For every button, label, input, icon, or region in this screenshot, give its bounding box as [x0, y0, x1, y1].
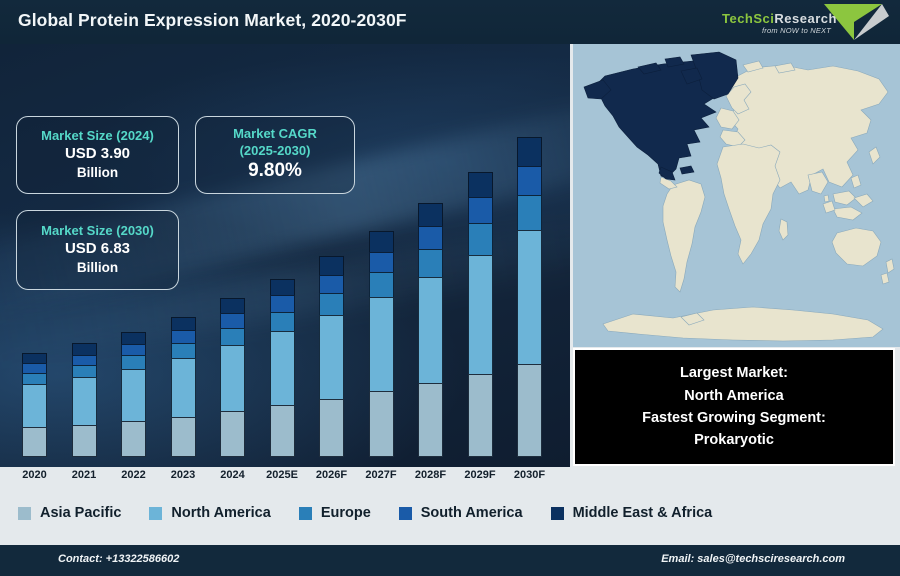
- bar-segment-asia-pacific: [270, 405, 295, 457]
- legend-swatch-icon: [149, 507, 162, 520]
- bar-segment-middle-east-africa: [72, 343, 97, 354]
- bar-segment-middle-east-africa: [517, 137, 542, 166]
- bar-2029F[interactable]: [468, 172, 493, 457]
- bar-segment-south-america: [369, 252, 394, 272]
- bar-segment-europe: [418, 249, 443, 277]
- bar-segment-europe: [517, 195, 542, 230]
- largest-market-value: North America: [684, 385, 783, 407]
- bar-segment-asia-pacific: [220, 411, 245, 457]
- bar-segment-europe: [319, 293, 344, 315]
- brand-logo: TechSciResearch from NOW to NEXT: [704, 0, 894, 44]
- bar-2020[interactable]: [22, 353, 47, 457]
- contact-email: Email: sales@techsciresearch.com: [661, 553, 845, 565]
- bar-segment-north-america: [369, 297, 394, 391]
- bar-segment-asia-pacific: [319, 399, 344, 457]
- bar-segment-asia-pacific: [121, 421, 146, 457]
- bar-segment-south-america: [22, 363, 47, 373]
- page-title: Global Protein Expression Market, 2020-2…: [18, 10, 407, 31]
- legend-swatch-icon: [399, 507, 412, 520]
- bar-2030F[interactable]: [517, 137, 542, 457]
- footer-bar: Contact: +13322586602 Email: sales@techs…: [0, 545, 900, 576]
- legend-label: Europe: [321, 505, 371, 521]
- bar-2021[interactable]: [72, 343, 97, 457]
- stacked-bar-chart: [0, 44, 570, 467]
- bar-segment-south-america: [418, 226, 443, 249]
- bar-segment-north-america: [270, 331, 295, 405]
- bar-segment-middle-east-africa: [22, 353, 47, 363]
- world-map-svg: [573, 44, 900, 347]
- bar-segment-south-america: [468, 197, 493, 223]
- world-map: [570, 44, 900, 347]
- chart-panel: Market Size (2024) USD 3.90 Billion Mark…: [0, 44, 570, 467]
- logo-text-part1: TechSci: [722, 11, 774, 26]
- legend-swatch-icon: [18, 507, 31, 520]
- bar-segment-south-america: [220, 313, 245, 328]
- legend-item-middle-east-africa[interactable]: Middle East & Africa: [551, 505, 713, 521]
- bar-segment-asia-pacific: [22, 427, 47, 457]
- bar-2028F[interactable]: [418, 203, 443, 457]
- bar-segment-middle-east-africa: [369, 231, 394, 251]
- bar-segment-asia-pacific: [468, 374, 493, 457]
- legend-label: Middle East & Africa: [573, 505, 713, 521]
- legend-item-north-america[interactable]: North America: [149, 505, 270, 521]
- bar-segment-south-america: [517, 166, 542, 195]
- bar-segment-north-america: [517, 230, 542, 363]
- bar-segment-north-america: [220, 345, 245, 411]
- bar-2026F[interactable]: [319, 256, 344, 457]
- bar-segment-middle-east-africa: [171, 317, 196, 330]
- legend-swatch-icon: [551, 507, 564, 520]
- bar-segment-asia-pacific: [418, 383, 443, 457]
- bar-segment-asia-pacific: [72, 425, 97, 458]
- largest-market-label: Largest Market:: [680, 362, 788, 384]
- bar-segment-north-america: [319, 315, 344, 399]
- contact-phone: Contact: +13322586602: [58, 553, 179, 565]
- x-axis-label-2030F: 2030F: [500, 469, 560, 481]
- infographic-root: Global Protein Expression Market, 2020-2…: [0, 0, 900, 576]
- legend-label: South America: [421, 505, 523, 521]
- fastest-segment-label: Fastest Growing Segment:: [642, 407, 826, 429]
- chart-legend: Asia PacificNorth AmericaEuropeSouth Ame…: [0, 491, 900, 535]
- bar-segment-europe: [121, 355, 146, 369]
- bar-segment-middle-east-africa: [468, 172, 493, 198]
- header-bar: Global Protein Expression Market, 2020-2…: [0, 0, 900, 44]
- legend-swatch-icon: [299, 507, 312, 520]
- bar-segment-middle-east-africa: [220, 298, 245, 313]
- legend-label: Asia Pacific: [40, 505, 121, 521]
- legend-item-europe[interactable]: Europe: [299, 505, 371, 521]
- bar-segment-north-america: [121, 369, 146, 421]
- legend-item-asia-pacific[interactable]: Asia Pacific: [18, 505, 121, 521]
- bar-segment-europe: [270, 312, 295, 332]
- bar-segment-europe: [468, 223, 493, 255]
- bar-segment-north-america: [468, 255, 493, 374]
- bar-segment-north-america: [418, 277, 443, 383]
- bar-segment-asia-pacific: [369, 391, 394, 457]
- x-axis: 202020212022202320242025E2026F2027F2028F…: [0, 467, 570, 491]
- bar-segment-north-america: [22, 384, 47, 427]
- bar-segment-asia-pacific: [171, 417, 196, 457]
- legend-label: North America: [171, 505, 270, 521]
- bar-segment-south-america: [319, 275, 344, 293]
- bar-segment-europe: [171, 343, 196, 358]
- logo-text-part2: Research: [774, 11, 837, 26]
- bar-segment-middle-east-africa: [270, 279, 295, 296]
- legend-item-south-america[interactable]: South America: [399, 505, 523, 521]
- bar-segment-middle-east-africa: [319, 256, 344, 274]
- logo-tagline: from NOW to NEXT: [762, 26, 831, 35]
- bar-segment-south-america: [72, 355, 97, 365]
- bar-segment-north-america: [171, 358, 196, 416]
- bar-segment-south-america: [171, 330, 196, 343]
- bar-segment-asia-pacific: [517, 364, 542, 457]
- bar-segment-middle-east-africa: [121, 332, 146, 344]
- bar-segment-south-america: [121, 344, 146, 356]
- bar-segment-north-america: [72, 377, 97, 424]
- bar-2027F[interactable]: [369, 231, 394, 457]
- bar-2024[interactable]: [220, 298, 245, 457]
- bar-segment-middle-east-africa: [418, 203, 443, 226]
- bar-segment-europe: [369, 272, 394, 297]
- bar-segment-europe: [22, 373, 47, 384]
- bar-segment-europe: [72, 365, 97, 378]
- fastest-segment-value: Prokaryotic: [694, 429, 774, 451]
- bar-2025E[interactable]: [270, 279, 295, 457]
- bar-segment-south-america: [270, 295, 295, 311]
- logo-wordmark: TechSciResearch: [722, 11, 837, 26]
- bar-segment-europe: [220, 328, 245, 346]
- bar-2023[interactable]: [171, 317, 196, 457]
- bar-2022[interactable]: [121, 332, 146, 457]
- key-insights-box: Largest Market: North America Fastest Gr…: [573, 348, 895, 466]
